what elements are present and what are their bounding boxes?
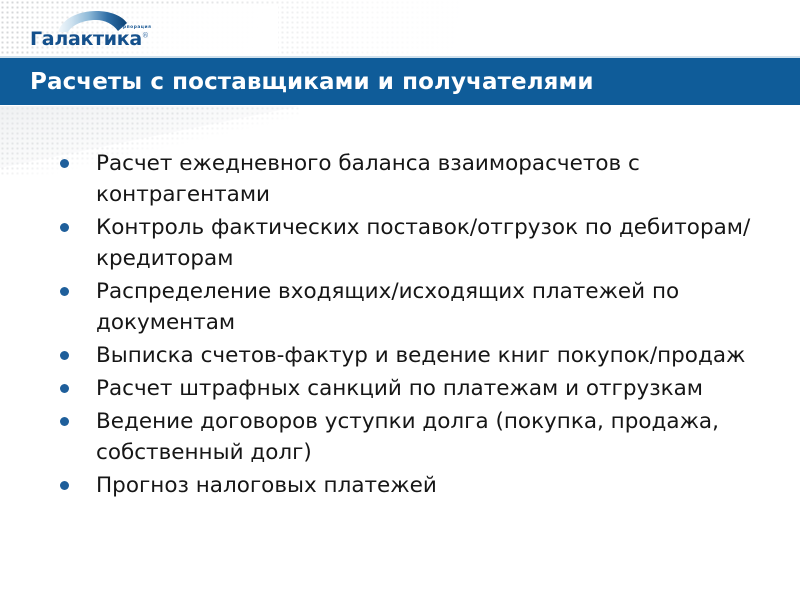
logo-trademark-symbol: ® xyxy=(142,32,149,40)
bullet-dot-icon xyxy=(60,417,69,426)
bullet-dot-icon xyxy=(60,287,69,296)
presentation-slide: корпорация Галактика® Расчеты с поставщи… xyxy=(0,0,800,600)
list-item-label: Выписка счетов-фактур и ведение книг пок… xyxy=(96,340,765,371)
bullet-dot-icon xyxy=(60,159,69,168)
list-item-label: Распределение входящих/исходящих платеже… xyxy=(96,276,765,338)
logo-wordmark: Галактика® xyxy=(30,30,149,49)
page-title: Расчеты с поставщиками и получателями xyxy=(30,69,594,95)
logo-wordmark-text: Галактика xyxy=(30,28,142,50)
galaktika-logo: корпорация Галактика® xyxy=(30,11,160,55)
list-item: Прогноз налоговых платежей xyxy=(55,470,765,501)
list-item-label: Расчет штрафных санкций по платежам и от… xyxy=(96,373,765,404)
list-item: Ведение договоров уступки долга (покупка… xyxy=(55,406,765,468)
list-item: Распределение входящих/исходящих платеже… xyxy=(55,276,765,338)
slide-body: Расчет ежедневного баланса взаиморасчето… xyxy=(55,148,765,503)
list-item: Расчет штрафных санкций по платежам и от… xyxy=(55,373,765,404)
list-item-label: Прогноз налоговых платежей xyxy=(96,470,765,501)
bullet-dot-icon xyxy=(60,351,69,360)
bullet-dot-icon xyxy=(60,481,69,490)
slide-title-band: Расчеты с поставщиками и получателями xyxy=(0,58,800,105)
bullet-dot-icon xyxy=(60,384,69,393)
list-item-label: Контроль фактических поставок/отгрузок п… xyxy=(96,212,765,274)
list-item-label: Расчет ежедневного баланса взаиморасчето… xyxy=(96,148,765,210)
list-item: Расчет ежедневного баланса взаиморасчето… xyxy=(55,148,765,210)
list-item-label: Ведение договоров уступки долга (покупка… xyxy=(96,406,765,468)
bullet-dot-icon xyxy=(60,223,69,232)
list-item: Контроль фактических поставок/отгрузок п… xyxy=(55,212,765,274)
list-item: Выписка счетов-фактур и ведение книг пок… xyxy=(55,340,765,371)
feature-bullet-list: Расчет ежедневного баланса взаиморасчето… xyxy=(55,148,765,501)
